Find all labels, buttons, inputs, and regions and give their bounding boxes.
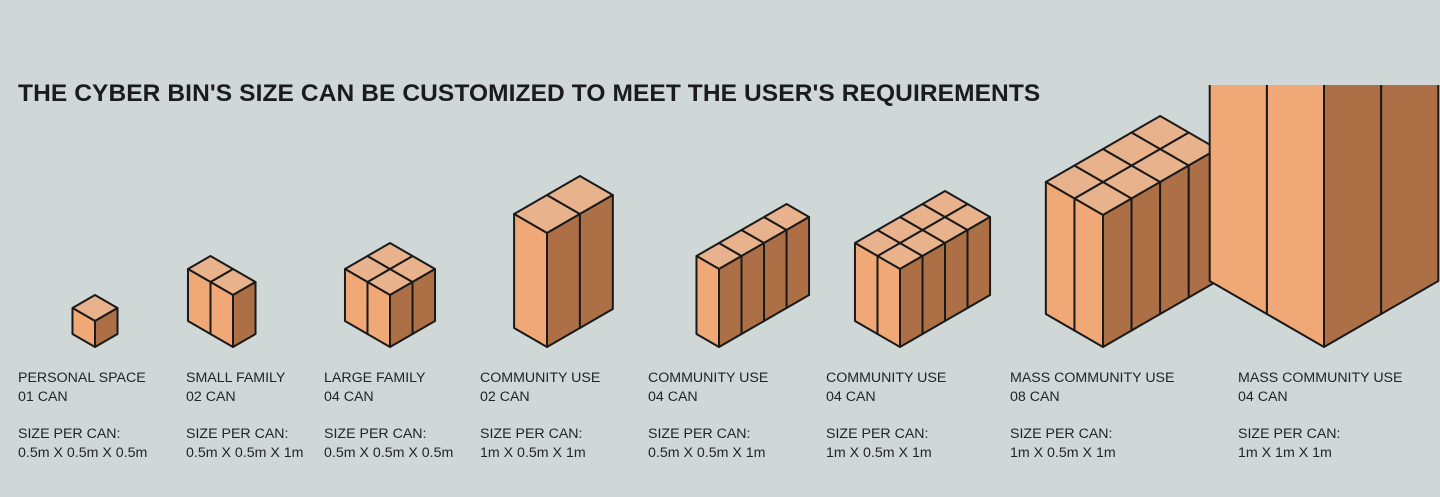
bin-caption: COMMUNITY USE02 CANSIZE PER CAN:1m X 0.5… (480, 369, 600, 463)
caption-spacer (324, 407, 453, 425)
caption-spacer (1238, 407, 1403, 425)
bin-illustration (0, 85, 1440, 360)
bin-size-label: SIZE PER CAN: (1010, 425, 1175, 444)
bin-size-label: SIZE PER CAN: (324, 425, 453, 444)
bin-size-value: 1m X 0.5m X 1m (826, 444, 946, 463)
bin-size-label: SIZE PER CAN: (480, 425, 600, 444)
bin-caption: PERSONAL SPACE01 CANSIZE PER CAN:0.5m X … (18, 369, 147, 463)
bin-caption: LARGE FAMILY04 CANSIZE PER CAN:0.5m X 0.… (324, 369, 453, 463)
bin-size-label: SIZE PER CAN: (648, 425, 768, 444)
bin-caption-row: PERSONAL SPACE01 CANSIZE PER CAN:0.5m X … (0, 369, 1440, 479)
bin-size-value: 0.5m X 0.5m X 0.5m (18, 444, 147, 463)
bin-caption: COMMUNITY USE04 CANSIZE PER CAN:0.5m X 0… (648, 369, 768, 463)
bin-caption: MASS COMMUNITY USE04 CANSIZE PER CAN:1m … (1238, 369, 1403, 463)
bin-size-value: 0.5m X 0.5m X 0.5m (324, 444, 453, 463)
caption-spacer (480, 407, 600, 425)
bin-can-count: 04 CAN (826, 388, 946, 407)
caption-spacer (186, 407, 303, 425)
bin-size-value: 0.5m X 0.5m X 1m (186, 444, 303, 463)
bin-can-count: 01 CAN (18, 388, 147, 407)
caption-spacer (826, 407, 946, 425)
bin-can-count: 04 CAN (324, 388, 453, 407)
bin-can-count: 04 CAN (1238, 388, 1403, 407)
bin-left-face (1267, 85, 1324, 347)
bin-size-value: 1m X 0.5m X 1m (1010, 444, 1175, 463)
bin-right-face (1381, 85, 1438, 314)
bin-use-label: LARGE FAMILY (324, 369, 453, 388)
bin-size-value: 0.5m X 0.5m X 1m (648, 444, 768, 463)
bin-use-label: PERSONAL SPACE (18, 369, 147, 388)
bin-left-face (1210, 85, 1267, 314)
bin-use-label: COMMUNITY USE (826, 369, 946, 388)
caption-spacer (648, 407, 768, 425)
bin-use-label: SMALL FAMILY (186, 369, 303, 388)
caption-spacer (1010, 407, 1175, 425)
bin-caption: MASS COMMUNITY USE08 CANSIZE PER CAN:1m … (1010, 369, 1175, 463)
bin-caption: COMMUNITY USE04 CANSIZE PER CAN:1m X 0.5… (826, 369, 946, 463)
bin-can-count: 04 CAN (648, 388, 768, 407)
bin-can-count: 08 CAN (1010, 388, 1175, 407)
bin-size-label: SIZE PER CAN: (18, 425, 147, 444)
bin-size-value: 1m X 1m X 1m (1238, 444, 1403, 463)
bin-use-label: MASS COMMUNITY USE (1010, 369, 1175, 388)
bin-use-label: COMMUNITY USE (648, 369, 768, 388)
bin-size-label: SIZE PER CAN: (186, 425, 303, 444)
bin-right-face (1324, 85, 1381, 347)
bin-size-label: SIZE PER CAN: (826, 425, 946, 444)
bin-can-count: 02 CAN (186, 388, 303, 407)
bin-use-label: COMMUNITY USE (480, 369, 600, 388)
bin-use-label: MASS COMMUNITY USE (1238, 369, 1403, 388)
caption-spacer (18, 407, 147, 425)
bin-size-value: 1m X 0.5m X 1m (480, 444, 600, 463)
bin-illustration-row (0, 85, 1440, 360)
bin-can-count: 02 CAN (480, 388, 600, 407)
bin-size-label: SIZE PER CAN: (1238, 425, 1403, 444)
bin-caption: SMALL FAMILY02 CANSIZE PER CAN:0.5m X 0.… (186, 369, 303, 463)
